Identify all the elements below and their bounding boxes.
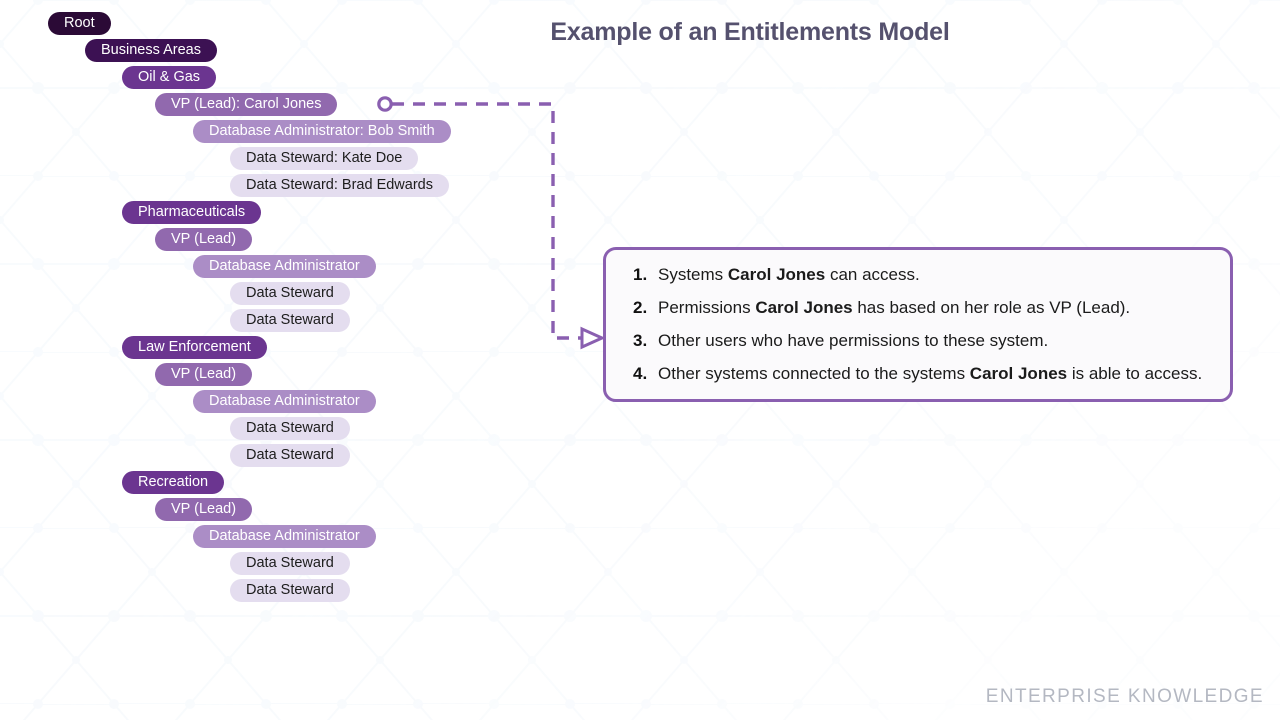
callout-item-text: Systems Carol Jones can access.	[658, 263, 1208, 286]
callout-emphasis: Carol Jones	[728, 265, 825, 284]
tree-node-pill[interactable]: Database Administrator: Bob Smith	[193, 120, 451, 143]
callout-item-number: 1.	[624, 263, 658, 286]
page-title: Example of an Entitlements Model	[0, 18, 1280, 47]
tree-node-pill[interactable]: Database Administrator	[193, 390, 376, 413]
tree-node-pill[interactable]: Database Administrator	[193, 525, 376, 548]
tree-node-pill[interactable]: Database Administrator	[193, 255, 376, 278]
entitlements-questions-box: 1.Systems Carol Jones can access.2.Permi…	[603, 247, 1233, 402]
callout-plain-text: is able to access.	[1067, 364, 1202, 383]
tree-node-pill[interactable]: Data Steward	[230, 417, 350, 440]
callout-item-text: Other systems connected to the systems C…	[658, 362, 1208, 385]
callout-plain-text: Other users who have permissions to thes…	[658, 331, 1048, 350]
tree-node-pill[interactable]: Data Steward: Brad Edwards	[230, 174, 449, 197]
callout-list-item: 3.Other users who have permissions to th…	[624, 329, 1208, 352]
callout-item-number: 3.	[624, 329, 658, 352]
callout-list-item: 2.Permissions Carol Jones has based on h…	[624, 296, 1208, 319]
callout-plain-text: has based on her role as VP (Lead).	[853, 298, 1131, 317]
callout-item-number: 4.	[624, 362, 658, 385]
callout-item-text: Other users who have permissions to thes…	[658, 329, 1208, 352]
tree-node-pill[interactable]: VP (Lead): Carol Jones	[155, 93, 337, 116]
tree-node-pill[interactable]: VP (Lead)	[155, 228, 252, 251]
tree-node-pill[interactable]: Law Enforcement	[122, 336, 267, 359]
callout-item-number: 2.	[624, 296, 658, 319]
callout-list-item: 1.Systems Carol Jones can access.	[624, 263, 1208, 286]
callout-emphasis: Carol Jones	[755, 298, 852, 317]
connector-start-circle-icon	[379, 98, 391, 110]
tree-node-pill[interactable]: Pharmaceuticals	[122, 201, 261, 224]
tree-node-pill[interactable]: Data Steward	[230, 282, 350, 305]
tree-node-pill[interactable]: Recreation	[122, 471, 224, 494]
tree-node-pill[interactable]: VP (Lead)	[155, 363, 252, 386]
tree-node-pill[interactable]: Data Steward	[230, 444, 350, 467]
callout-emphasis: Carol Jones	[970, 364, 1067, 383]
callout-list-item: 4.Other systems connected to the systems…	[624, 362, 1208, 385]
tree-node-pill[interactable]: Data Steward	[230, 579, 350, 602]
tree-node-pill[interactable]: Oil & Gas	[122, 66, 216, 89]
enterprise-knowledge-watermark: ENTERPRISE KNOWLEDGE	[986, 686, 1264, 708]
callout-item-text: Permissions Carol Jones has based on her…	[658, 296, 1208, 319]
connector-arrowhead-icon	[582, 329, 602, 347]
tree-node-pill[interactable]: Data Steward	[230, 552, 350, 575]
tree-node-pill[interactable]: Data Steward	[230, 309, 350, 332]
callout-plain-text: Other systems connected to the systems	[658, 364, 970, 383]
callout-plain-text: Systems	[658, 265, 728, 284]
callout-plain-text: can access.	[825, 265, 920, 284]
tree-node-pill[interactable]: VP (Lead)	[155, 498, 252, 521]
tree-node-pill[interactable]: Data Steward: Kate Doe	[230, 147, 418, 170]
callout-plain-text: Permissions	[658, 298, 755, 317]
